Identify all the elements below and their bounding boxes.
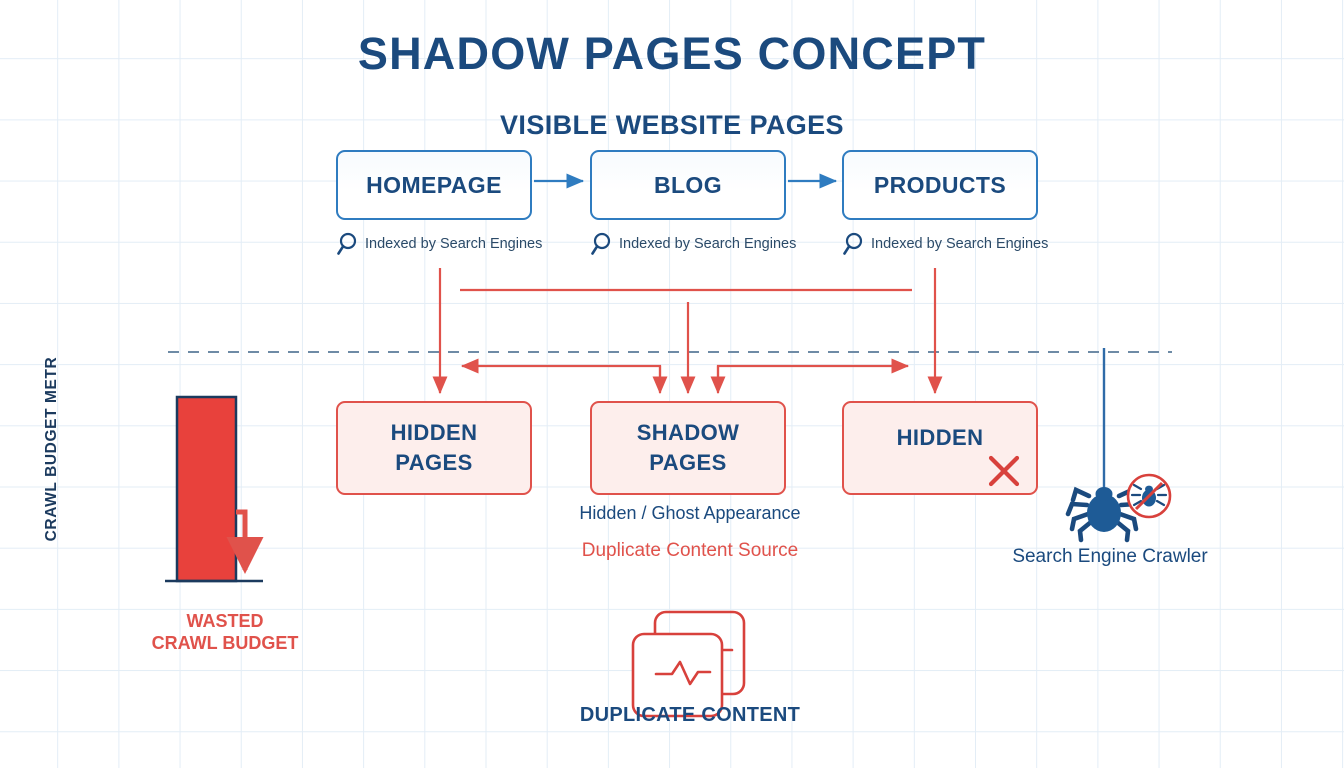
indexed-note-label: Indexed by Search Engines <box>619 236 796 252</box>
indexed-note-blog: Indexed by Search Engines <box>590 232 796 256</box>
wasted-line2: CRAWL BUDGET <box>152 633 299 653</box>
infographic-canvas: SHADOW PAGES CONCEPT VISIBLE WEBSITE PAG… <box>0 0 1344 768</box>
spider-icon <box>1068 490 1140 540</box>
hidden-page-box-hidden-pages[interactable]: HIDDEN PAGES <box>336 401 532 495</box>
no-bug-icon <box>1128 475 1170 517</box>
chart-y-axis-label: CRAWL BUDGET METR <box>43 349 61 549</box>
cross-link-left-elbow <box>462 366 660 390</box>
section-subtitle: VISIBLE WEBSITE PAGES <box>0 110 1344 141</box>
spider-body <box>1087 494 1121 532</box>
search-icon <box>842 232 864 256</box>
page-title: SHADOW PAGES CONCEPT <box>0 28 1344 80</box>
chart-category-label: WASTED CRAWL BUDGET <box>120 610 330 654</box>
caption-duplicate-content-source: Duplicate Content Source <box>440 540 940 562</box>
hidden-page-label-line1: HIDDEN <box>391 418 478 448</box>
hidden-page-box-hidden-blocked[interactable]: HIDDEN <box>842 401 1038 495</box>
visible-page-box-homepage[interactable]: HOMEPAGE <box>336 150 532 220</box>
visible-page-label: HOMEPAGE <box>366 172 502 199</box>
chart-bar <box>177 397 236 581</box>
hidden-page-label-line2: PAGES <box>395 448 472 478</box>
duplicate-content-icon <box>633 612 744 716</box>
visible-page-label: BLOG <box>654 172 722 199</box>
wasted-budget-arrow <box>236 512 245 570</box>
indexed-note-homepage: Indexed by Search Engines <box>336 232 542 256</box>
indexed-note-products: Indexed by Search Engines <box>842 232 1048 256</box>
caption-search-engine-crawler: Search Engine Crawler <box>975 546 1245 568</box>
search-icon <box>336 232 358 256</box>
hidden-page-label-line1: HIDDEN <box>897 423 984 453</box>
spider-head <box>1096 487 1113 501</box>
caption-ghost-appearance: Hidden / Ghost Appearance <box>440 503 940 524</box>
hidden-page-label-line1: SHADOW <box>637 418 740 448</box>
visible-page-label: PRODUCTS <box>874 172 1006 199</box>
hidden-page-label-line2: PAGES <box>649 448 726 478</box>
caption-duplicate-content: DUPLICATE CONTENT <box>490 704 890 727</box>
visible-page-box-products[interactable]: PRODUCTS <box>842 150 1038 220</box>
crawl-budget-chart <box>165 397 263 581</box>
search-icon <box>590 232 612 256</box>
hidden-page-box-shadow-pages[interactable]: SHADOW PAGES <box>590 401 786 495</box>
indexed-note-label: Indexed by Search Engines <box>871 236 1048 252</box>
indexed-note-label: Indexed by Search Engines <box>365 236 542 252</box>
cross-link-right-elbow <box>718 366 908 390</box>
visible-page-box-blog[interactable]: BLOG <box>590 150 786 220</box>
close-x-icon <box>986 453 1022 489</box>
wasted-line1: WASTED <box>186 611 263 631</box>
